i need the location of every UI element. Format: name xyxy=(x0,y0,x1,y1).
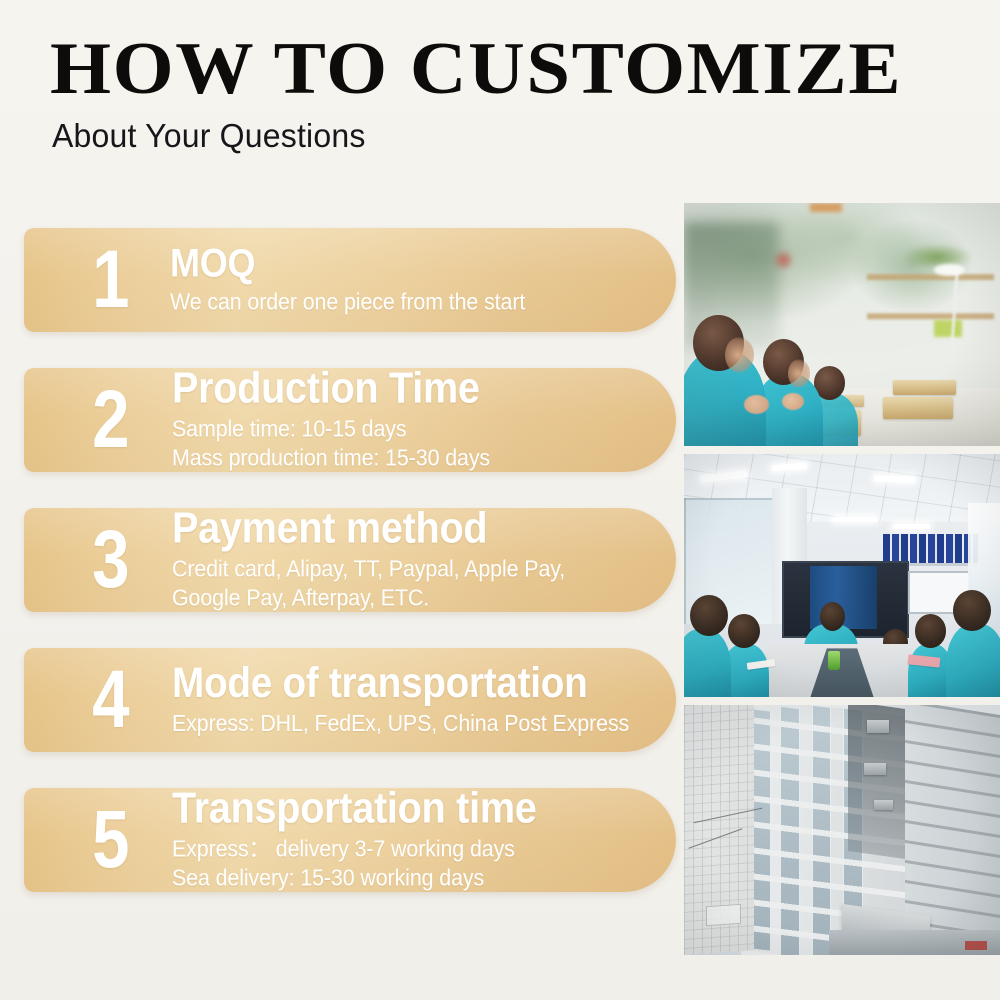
step-detail-line: Sea delivery: 15-30 working days xyxy=(172,864,613,892)
step-body: Transportation time Express： delivery 3-… xyxy=(172,788,646,892)
step-title: Payment method xyxy=(172,508,599,551)
photo-factory-building: Low-angle exterior view of a white tiled… xyxy=(684,705,1000,955)
step-detail-line: Credit card, Alipay, TT, Paypal, Apple P… xyxy=(172,555,613,584)
step-body: Production Time Sample time: 10-15 days … xyxy=(172,368,646,472)
steps-list: 1 MOQ We can order one piece from the st… xyxy=(24,228,676,928)
meeting-room-vignette xyxy=(684,454,1000,697)
step-detail-line: Express： delivery 3-7 working days xyxy=(172,835,613,864)
step-title: Production Time xyxy=(172,368,599,411)
step-number: 5 xyxy=(92,799,129,881)
step-title: Mode of transportation xyxy=(172,662,599,705)
photo-column: Workers in teal uniforms assembling prod… xyxy=(684,203,1000,955)
list-item-payment-method: 3 Payment method Credit card, Alipay, TT… xyxy=(24,508,676,612)
step-title: Transportation time xyxy=(172,788,599,831)
building-vignette xyxy=(684,705,1000,955)
step-number: 4 xyxy=(92,659,129,741)
infographic-page: HOW TO CUSTOMIZE About Your Questions 1 … xyxy=(0,0,1000,1000)
photo-workshop: Workers in teal uniforms assembling prod… xyxy=(684,203,1000,446)
photo-meeting-room: Staff in teal uniforms seated around a c… xyxy=(684,454,1000,697)
step-detail-line: Sample time: 10-15 days xyxy=(172,415,613,444)
step-detail-lines: Credit card, Alipay, TT, Paypal, Apple P… xyxy=(172,555,646,612)
step-detail-lines: Express： delivery 3-7 working days Sea d… xyxy=(172,835,646,892)
step-body: Payment method Credit card, Alipay, TT, … xyxy=(172,508,646,612)
step-detail-line: Google Pay, Afterpay, ETC. xyxy=(172,584,613,612)
step-detail-lines: Express: DHL, FedEx, UPS, China Post Exp… xyxy=(172,709,646,738)
step-number: 2 xyxy=(92,379,129,461)
step-number: 1 xyxy=(92,239,129,321)
step-detail-lines: Sample time: 10-15 days Mass production … xyxy=(172,415,646,472)
step-number: 3 xyxy=(92,519,129,601)
step-detail-line: Express: DHL, FedEx, UPS, China Post Exp… xyxy=(172,709,613,738)
step-title: MOQ xyxy=(170,243,598,283)
step-detail-line: We can order one piece from the start xyxy=(170,287,613,316)
step-body: MOQ We can order one piece from the star… xyxy=(170,243,646,316)
list-item-moq: 1 MOQ We can order one piece from the st… xyxy=(24,228,676,332)
step-detail-line: Mass production time: 15-30 days xyxy=(172,444,613,472)
list-item-transportation-time: 5 Transportation time Express： delivery … xyxy=(24,788,676,892)
page-title: HOW TO CUSTOMIZE xyxy=(50,34,983,104)
list-item-mode-of-transportation: 4 Mode of transportation Express: DHL, F… xyxy=(24,648,676,752)
step-body: Mode of transportation Express: DHL, Fed… xyxy=(172,662,646,738)
workshop-vignette xyxy=(684,203,1000,446)
list-item-production-time: 2 Production Time Sample time: 10-15 day… xyxy=(24,368,676,472)
step-detail-lines: We can order one piece from the start xyxy=(170,287,646,316)
page-subtitle: About Your Questions xyxy=(52,118,904,154)
header: HOW TO CUSTOMIZE About Your Questions xyxy=(50,34,930,155)
